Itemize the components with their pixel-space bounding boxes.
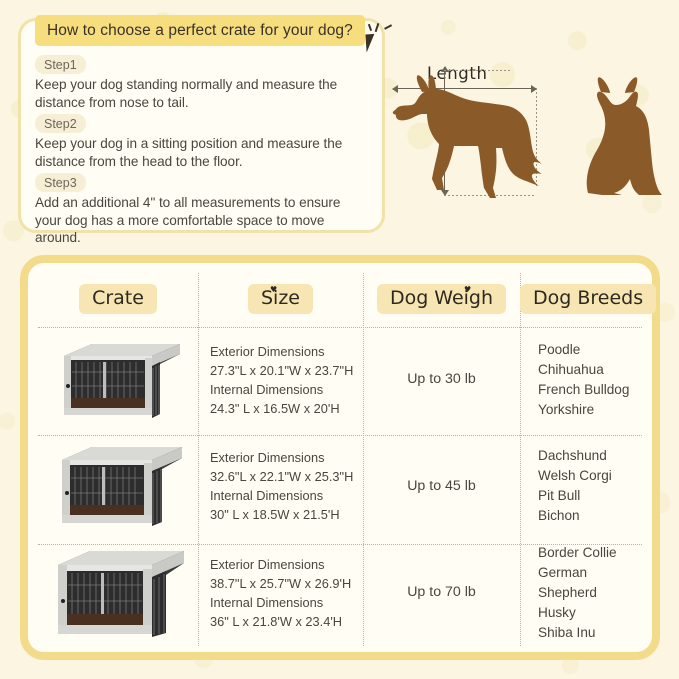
breed-item: Husky xyxy=(538,603,642,623)
dog-crate-small-icon xyxy=(48,332,188,428)
breed-item: Yorkshire xyxy=(538,400,629,420)
size-line: 36" L x 21.8'W x 23.4'H xyxy=(210,612,351,631)
breed-item: Border Collie xyxy=(538,543,642,563)
cell-crate-image xyxy=(38,326,198,433)
size-line: Internal Dimensions xyxy=(210,380,353,399)
table-row: Exterior Dimensions 27.3"L x 20.1"W x 23… xyxy=(38,326,642,433)
size-line: 32.6"L x 22.1"W x 25.3"H xyxy=(210,467,353,486)
breed-item: Chihuahua xyxy=(538,360,629,380)
sparkle-icon xyxy=(375,23,379,32)
breeds-list: Poodle Chihuahua French Bulldog Yorkshir… xyxy=(538,340,629,420)
step-badge: Step1 xyxy=(35,55,86,74)
cell-breeds: Border Collie German Shepherd Husky Shib… xyxy=(520,539,642,646)
infographic-page: How to choose a perfect crate for your d… xyxy=(0,0,679,679)
header-chip-crate: Crate xyxy=(79,284,157,314)
breeds-list: Dachshund Welsh Corgi Pit Bull Bichon xyxy=(538,446,612,526)
dog-sitting-silhouette xyxy=(587,77,662,195)
header-chip-weight: Dog Weigh ♥ xyxy=(377,284,506,314)
cell-size: Exterior Dimensions 38.7"L x 25.7"W x 26… xyxy=(198,539,363,646)
step-text: Add an additional 4" to all measurements… xyxy=(35,194,370,247)
breed-item: Bichon xyxy=(538,506,612,526)
size-line: Internal Dimensions xyxy=(210,486,353,505)
step-text: Keep your dog standing normally and meas… xyxy=(35,76,370,111)
size-lines: Exterior Dimensions 38.7"L x 25.7"W x 26… xyxy=(210,555,351,631)
weight-value: Up to 45 lb xyxy=(407,477,476,496)
breed-item: Dachshund xyxy=(538,446,612,466)
crate-size-table: Crate Size ♥ Dog Weigh ♥ Dog Breeds xyxy=(28,263,652,652)
sparkle-icon xyxy=(384,24,392,29)
breed-item: French Bulldog xyxy=(538,380,629,400)
size-line: Exterior Dimensions xyxy=(210,342,353,361)
cell-breeds: Poodle Chihuahua French Bulldog Yorkshir… xyxy=(520,326,642,433)
breed-item: Pit Bull xyxy=(538,486,612,506)
header-label-size: Size xyxy=(261,287,300,309)
bubble-tail-icon xyxy=(365,33,381,52)
size-line: Exterior Dimensions xyxy=(210,448,353,467)
step-item: Step1 Keep your dog standing normally an… xyxy=(35,55,370,111)
step-item: Step3 Add an additional 4" to all measur… xyxy=(35,173,370,247)
measurement-diagram: Length Height xyxy=(392,48,667,243)
header-chip-size: Size ♥ xyxy=(248,284,313,314)
sparkle-icon xyxy=(368,24,372,31)
weight-value: Up to 30 lb xyxy=(407,370,476,389)
cell-weight: Up to 30 lb xyxy=(363,326,520,433)
size-lines: Exterior Dimensions 32.6"L x 22.1"W x 25… xyxy=(210,448,353,524)
steps-list: Step1 Keep your dog standing normally an… xyxy=(35,55,370,250)
cell-weight: Up to 45 lb xyxy=(363,433,520,540)
breed-item: Welsh Corgi xyxy=(538,466,612,486)
crate-size-table-panel: Crate Size ♥ Dog Weigh ♥ Dog Breeds xyxy=(20,255,660,660)
step-text: Keep your dog in a sitting position and … xyxy=(35,135,370,170)
breed-item: Shiba Inu xyxy=(538,623,642,643)
header-label-weight: Dog Weigh xyxy=(390,287,493,309)
heart-icon: ♥ xyxy=(270,286,277,294)
table-row: Exterior Dimensions 32.6"L x 22.1"W x 25… xyxy=(38,433,642,540)
weight-value: Up to 70 lb xyxy=(407,583,476,602)
size-line: 27.3"L x 20.1"W x 23.7"H xyxy=(210,361,353,380)
cell-breeds: Dachshund Welsh Corgi Pit Bull Bichon xyxy=(520,433,642,540)
table-header-row: Crate Size ♥ Dog Weigh ♥ Dog Breeds xyxy=(38,271,642,326)
step-badge: Step3 xyxy=(35,173,86,192)
size-line: 38.7"L x 25.7"W x 26.9'H xyxy=(210,574,351,593)
header-chip-breeds: Dog Breeds xyxy=(520,284,656,314)
dog-crate-large-icon xyxy=(48,545,188,641)
breed-item: Poodle xyxy=(538,340,629,360)
step-item: Step2 Keep your dog in a sitting positio… xyxy=(35,114,370,170)
cell-size: Exterior Dimensions 32.6"L x 22.1"W x 25… xyxy=(198,433,363,540)
header-cell-size: Size ♥ xyxy=(198,271,363,326)
table-row: Exterior Dimensions 38.7"L x 25.7"W x 26… xyxy=(38,539,642,646)
how-to-choose-bubble: How to choose a perfect crate for your d… xyxy=(18,18,385,233)
size-line: Exterior Dimensions xyxy=(210,555,351,574)
size-line: 30" L x 18.5W x 21.5'H xyxy=(210,505,353,524)
cell-crate-image xyxy=(38,539,198,646)
breeds-list: Border Collie German Shepherd Husky Shib… xyxy=(538,543,642,643)
cell-crate-image xyxy=(38,433,198,540)
breed-item: German Shepherd xyxy=(538,563,642,603)
step-badge: Step2 xyxy=(35,114,86,133)
header-cell-weight: Dog Weigh ♥ xyxy=(363,271,520,326)
dog-silhouettes xyxy=(392,48,667,243)
bubble-title: How to choose a perfect crate for your d… xyxy=(35,15,365,46)
dog-crate-medium-icon xyxy=(48,438,188,534)
header-cell-crate: Crate xyxy=(38,271,198,326)
heart-icon: ♥ xyxy=(464,286,471,294)
dog-standing-silhouette xyxy=(393,75,542,198)
size-line: Internal Dimensions xyxy=(210,593,351,612)
cell-size: Exterior Dimensions 27.3"L x 20.1"W x 23… xyxy=(198,326,363,433)
size-lines: Exterior Dimensions 27.3"L x 20.1"W x 23… xyxy=(210,342,353,418)
header-cell-breeds: Dog Breeds xyxy=(520,271,656,326)
cell-weight: Up to 70 lb xyxy=(363,539,520,646)
size-line: 24.3" L x 16.5W x 20'H xyxy=(210,399,353,418)
